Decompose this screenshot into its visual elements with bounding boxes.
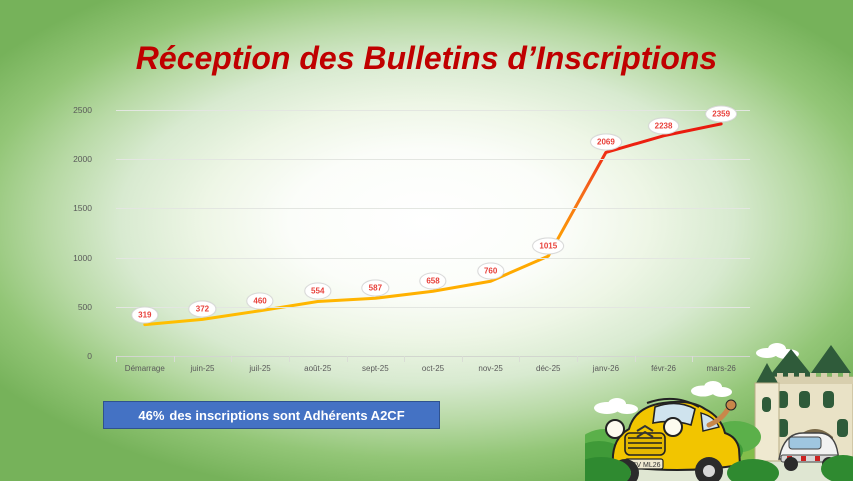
chart-gridline xyxy=(116,208,750,209)
banner-percent: 46% xyxy=(138,408,164,423)
data-point-label: 1015 xyxy=(532,238,564,255)
x-axis-tick xyxy=(289,356,290,362)
chart-gridline xyxy=(116,159,750,160)
x-axis-tick-label: nov-25 xyxy=(478,364,502,373)
x-axis-tick-label: sept-25 xyxy=(362,364,389,373)
data-point-label: 2238 xyxy=(648,117,680,134)
x-axis-tick xyxy=(174,356,175,362)
x-axis-tick-label: juil-25 xyxy=(249,364,270,373)
x-axis-tick-label: déc-25 xyxy=(536,364,560,373)
y-axis-tick-label: 2000 xyxy=(73,154,92,164)
y-axis-tick-label: 0 xyxy=(87,351,92,361)
banner-text: des inscriptions sont Adhérents A2CF xyxy=(169,408,404,423)
x-axis-tick xyxy=(577,356,578,362)
y-axis-tick-label: 1500 xyxy=(73,203,92,213)
x-axis-tick-label: août-25 xyxy=(304,364,331,373)
chart-gridline xyxy=(116,110,750,111)
page-title: Réception des Bulletins d’Inscriptions xyxy=(0,40,853,77)
x-axis-tick-label: Démarrage xyxy=(125,364,165,373)
presentation-slide: Réception des Bulletins d’Inscriptions 0… xyxy=(0,0,853,481)
x-axis-tick xyxy=(116,356,117,362)
x-axis-tick-label: oct-25 xyxy=(422,364,444,373)
x-axis-tick xyxy=(462,356,463,362)
x-axis-tick xyxy=(404,356,405,362)
data-point-label: 2359 xyxy=(705,105,737,122)
status-banner: 46% des inscriptions sont Adhérents A2CF xyxy=(103,401,440,429)
x-axis-tick xyxy=(519,356,520,362)
illustration-svg: 2CV ML26 xyxy=(585,333,853,481)
x-axis-tick xyxy=(347,356,348,362)
x-axis-tick-label: juin-25 xyxy=(190,364,214,373)
y-axis-tick-label: 2500 xyxy=(73,105,92,115)
chart-gridline xyxy=(116,258,750,259)
citroen-2cv-chateau-illustration: 2CV ML26 xyxy=(585,333,853,481)
y-axis-tick-label: 500 xyxy=(78,302,92,312)
y-axis-tick-label: 1000 xyxy=(73,253,92,263)
x-axis-tick xyxy=(231,356,232,362)
data-point-label: 2069 xyxy=(590,134,622,151)
data-series-line xyxy=(145,124,721,325)
